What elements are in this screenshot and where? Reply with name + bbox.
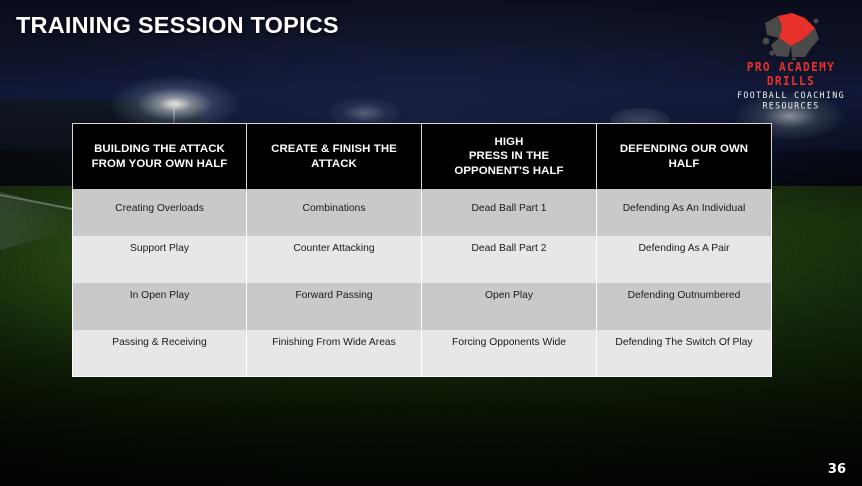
table-cell: Passing & Receiving (72, 330, 247, 377)
table-cell: Open Play (422, 283, 597, 330)
logo-brand-name: PRO ACADEMY DRILLS (724, 60, 858, 88)
header-line: DEFENDING OUR OWN (620, 143, 748, 155)
table-header: BUILDING THE ATTACK FROM YOUR OWN HALF C… (72, 123, 772, 189)
table-row: Creating Overloads Combinations Dead Bal… (72, 189, 772, 236)
table-cell: Defending Outnumbered (597, 283, 772, 330)
table-row: Passing & Receiving Finishing From Wide … (72, 330, 772, 377)
table-row: In Open Play Forward Passing Open Play D… (72, 283, 772, 330)
training-topics-table-wrapper: BUILDING THE ATTACK FROM YOUR OWN HALF C… (72, 123, 772, 377)
table-cell: Combinations (247, 189, 422, 236)
header-line: HIGH (495, 136, 524, 148)
logo-tagline: FOOTBALL COACHING RESOURCES (724, 90, 858, 111)
header-line: HALF (669, 158, 700, 170)
table-cell: Defending As A Pair (597, 236, 772, 283)
table-cell: Defending The Switch Of Play (597, 330, 772, 377)
brand-logo: PRO ACADEMY DRILLS FOOTBALL COACHING RES… (724, 8, 858, 110)
table-cell: In Open Play (72, 283, 247, 330)
table-cell: Counter Attacking (247, 236, 422, 283)
table-cell: Finishing From Wide Areas (247, 330, 422, 377)
page-title: TRAINING SESSION TOPICS (16, 12, 339, 39)
table-cell: Support Play (72, 236, 247, 283)
header-line: CREATE & FINISH THE (271, 143, 397, 155)
header-line: PRESS IN THE (469, 150, 549, 162)
header-line: ATTACK (311, 158, 357, 170)
column-header-defending-own-half: DEFENDING OUR OWN HALF (597, 123, 772, 189)
header-line: OPPONENT'S HALF (454, 165, 563, 177)
soccer-ball-icon (724, 8, 858, 60)
table-cell: Dead Ball Part 1 (422, 189, 597, 236)
table-row: Support Play Counter Attacking Dead Ball… (72, 236, 772, 283)
table-body: Creating Overloads Combinations Dead Bal… (72, 189, 772, 377)
table-cell: Forcing Opponents Wide (422, 330, 597, 377)
table-cell: Defending As An Individual (597, 189, 772, 236)
table-cell: Forward Passing (247, 283, 422, 330)
table-cell: Dead Ball Part 2 (422, 236, 597, 283)
page-number: 36 (828, 462, 846, 477)
training-topics-table: BUILDING THE ATTACK FROM YOUR OWN HALF C… (72, 123, 772, 377)
header-line: FROM YOUR OWN HALF (92, 158, 228, 170)
header-line: BUILDING THE ATTACK (94, 143, 225, 155)
table-cell: Creating Overloads (72, 189, 247, 236)
slide-canvas: TRAINING SESSION TOPICS (0, 0, 862, 486)
column-header-create-and-finish: CREATE & FINISH THE ATTACK (247, 123, 422, 189)
column-header-high-press: HIGH PRESS IN THE OPPONENT'S HALF (422, 123, 597, 189)
table-header-row: BUILDING THE ATTACK FROM YOUR OWN HALF C… (72, 123, 772, 189)
column-header-building-the-attack: BUILDING THE ATTACK FROM YOUR OWN HALF (72, 123, 247, 189)
